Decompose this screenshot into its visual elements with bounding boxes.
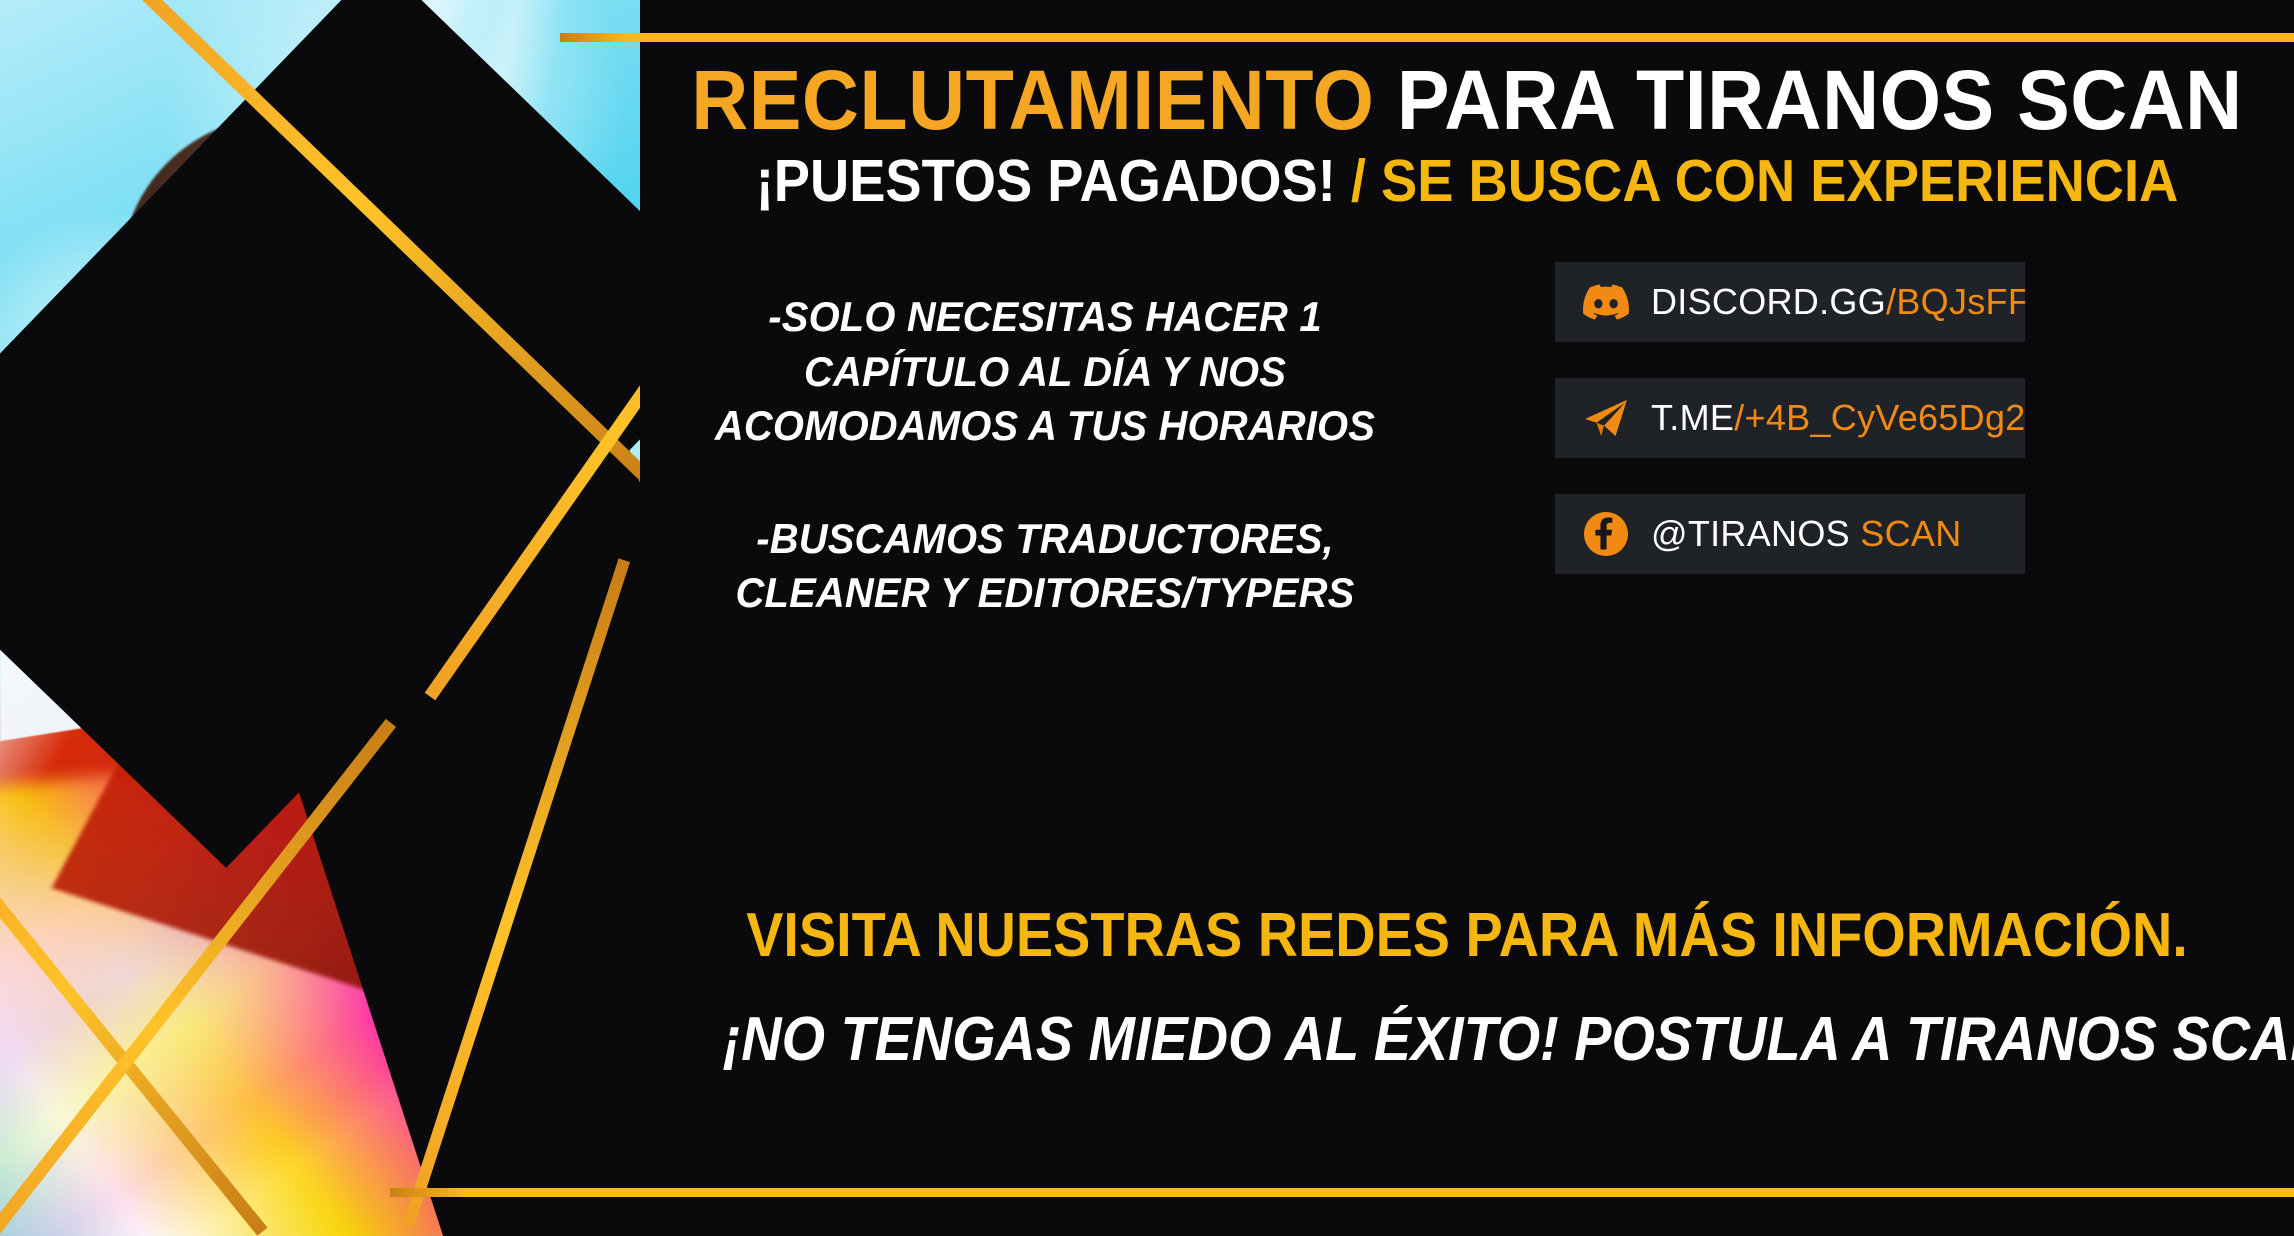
contact-list: DISCORD.GG/BQJsFFgHJd T.ME/+4B_CyVe65Dg2… [1555, 262, 2025, 610]
subheadline-experience: / SE BUSCA CON EXPERIENCIA [1336, 148, 2178, 214]
discord-icon [1583, 279, 1629, 325]
gold-rule-bottom [390, 1188, 2294, 1197]
telegram-separator: / [1734, 397, 1744, 438]
call-to-action: VISITA NUESTRAS REDES PARA MÁS INFORMACI… [640, 905, 2294, 1071]
discord-code: BQJsFFgHJd [1896, 281, 2025, 322]
bullet-item-2: -BUSCAMOS TRADUCTORES, CLEANER Y EDITORE… [670, 512, 1421, 621]
contact-telegram-text: T.ME/+4B_CyVe65Dg2MgJh [1651, 400, 2025, 436]
contact-facebook-text: @TIRANOS SCAN [1651, 516, 1962, 552]
telegram-code: +4B_CyVe65Dg2MgJh [1745, 397, 2025, 438]
telegram-prefix: T.ME [1651, 397, 1734, 438]
subheadline-paid: ¡PUESTOS PAGADOS! [756, 148, 1336, 214]
bullet-list: -SOLO NECESITAS HACER 1 CAPÍTULO AL DÍA … [650, 290, 1440, 621]
facebook-separator [1850, 513, 1860, 554]
discord-prefix: DISCORD.GG [1651, 281, 1886, 322]
telegram-icon [1583, 395, 1629, 441]
contact-discord[interactable]: DISCORD.GG/BQJsFFgHJd [1555, 262, 2025, 342]
contact-discord-text: DISCORD.GG/BQJsFFgHJd [1651, 284, 2025, 320]
discord-separator: / [1886, 281, 1896, 322]
cta-line-1: VISITA NUESTRAS REDES PARA MÁS INFORMACI… [723, 905, 2212, 967]
artwork-panel [0, 0, 640, 1236]
headline-rest: PARA TIRANOS SCAN [1374, 53, 2242, 147]
bullet-item-1: -SOLO NECESITAS HACER 1 CAPÍTULO AL DÍA … [670, 290, 1421, 454]
facebook-prefix: @TIRANOS [1651, 513, 1850, 554]
contact-telegram[interactable]: T.ME/+4B_CyVe65Dg2MgJh [1555, 378, 2025, 458]
subheadline: ¡PUESTOS PAGADOS! / SE BUSCA CON EXPERIE… [706, 152, 2228, 211]
gold-rule-top [560, 33, 2294, 42]
headline-highlight: RECLUTAMIENTO [691, 53, 1374, 147]
facebook-handle: SCAN [1860, 513, 1961, 554]
cta-line-2: ¡NO TENGAS MIEDO AL ÉXITO! POSTULA A TIR… [723, 1009, 2212, 1071]
facebook-icon [1583, 511, 1629, 557]
content-area: RECLUTAMIENTO PARA TIRANOS SCAN ¡PUESTOS… [640, 0, 2294, 1236]
contact-facebook[interactable]: @TIRANOS SCAN [1555, 494, 2025, 574]
recruitment-banner: RECLUTAMIENTO PARA TIRANOS SCAN ¡PUESTOS… [0, 0, 2294, 1236]
headline: RECLUTAMIENTO PARA TIRANOS SCAN [690, 58, 2245, 142]
